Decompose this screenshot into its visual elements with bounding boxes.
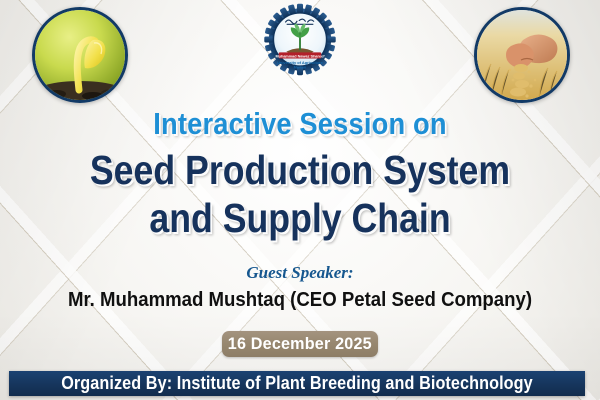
hands-pouring-grain-photo — [474, 7, 570, 103]
event-date-text: 16 December 2025 — [228, 334, 372, 354]
organizer-footer-bar: Organized By: Institute of Plant Breedin… — [9, 371, 585, 396]
organizer-text: Organized By: Institute of Plant Breedin… — [61, 373, 533, 394]
session-kicker-heading: Interactive Session on — [36, 106, 564, 142]
event-date-badge: 16 December 2025 — [222, 331, 378, 357]
logo-banner-text: Muhammad Nawaz Shareef — [276, 54, 326, 58]
germinating-seedling-photo — [32, 7, 128, 103]
poster-title-line-2: and Supply Chain — [39, 196, 561, 240]
guest-speaker-name: Mr. Muhammad Mushtaq (CEO Petal Seed Com… — [21, 288, 579, 312]
grain-photo-image — [477, 10, 567, 100]
grain-illustration-icon — [477, 10, 567, 100]
seedling-photo-image — [35, 10, 125, 100]
logo-subtitle-line-2: Multan — [294, 65, 307, 70]
poster-title-line-1: Seed Production System — [39, 148, 561, 192]
guest-speaker-label: Guest Speaker: — [0, 263, 600, 283]
seedling-illustration-icon — [35, 10, 125, 100]
event-poster: Muhammad Nawaz Shareef University of Agr… — [0, 0, 600, 400]
university-seal-icon: Muhammad Nawaz Shareef University of Agr… — [262, 1, 338, 81]
university-of-agriculture-multan-logo: Muhammad Nawaz Shareef University of Agr… — [262, 1, 338, 81]
